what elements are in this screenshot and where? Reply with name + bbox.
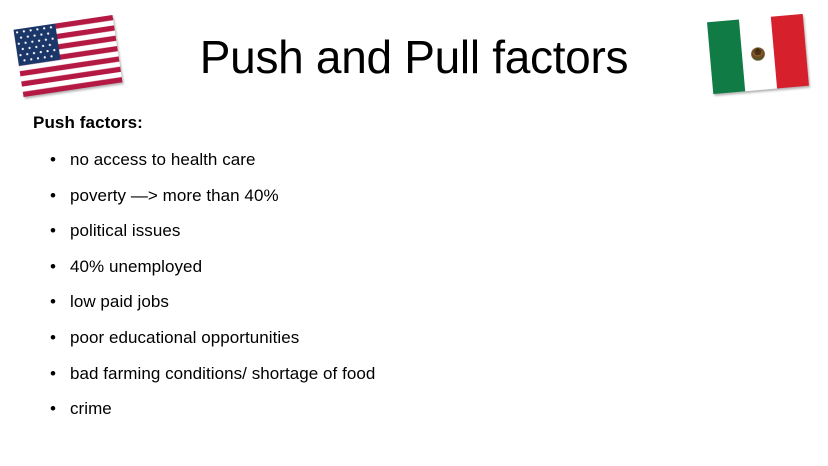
list-item-label: low paid jobs [70,290,169,314]
bullet-marker-icon: • [50,255,70,279]
list-item-label: crime [70,397,112,421]
bullet-marker-icon: • [50,290,70,314]
list-item-label: political issues [70,219,180,243]
presentation-slide: Push and Pull factors Push factors: • no… [0,0,828,466]
list-item: • bad farming conditions/ shortage of fo… [33,362,793,398]
list-item-label: 40% unemployed [70,255,202,279]
list-item-label: poor educational opportunities [70,326,299,350]
slide-body: Push factors: • no access to health care… [33,112,793,433]
mexico-flag-icon [707,14,809,94]
bullet-marker-icon: • [50,148,70,172]
list-item-label: poverty —> more than 40% [70,184,279,208]
list-item-label: no access to health care [70,148,255,172]
bullet-marker-icon: • [50,397,70,421]
list-item: • crime [33,397,793,433]
push-factors-heading: Push factors: [33,112,793,134]
bullet-marker-icon: • [50,184,70,208]
list-item: • poor educational opportunities [33,326,793,362]
slide-title: Push and Pull factors [0,28,828,86]
list-item: • 40% unemployed [33,255,793,291]
bullet-marker-icon: • [50,326,70,350]
list-item: • political issues [33,219,793,255]
bullet-marker-icon: • [50,219,70,243]
push-factors-list: • no access to health care • poverty —> … [33,148,793,433]
list-item: • no access to health care [33,148,793,184]
list-item-label: bad farming conditions/ shortage of food [70,362,375,386]
mexico-flag-graphic [707,14,809,94]
list-item: • poverty —> more than 40% [33,184,793,220]
bullet-marker-icon: • [50,362,70,386]
list-item: • low paid jobs [33,290,793,326]
